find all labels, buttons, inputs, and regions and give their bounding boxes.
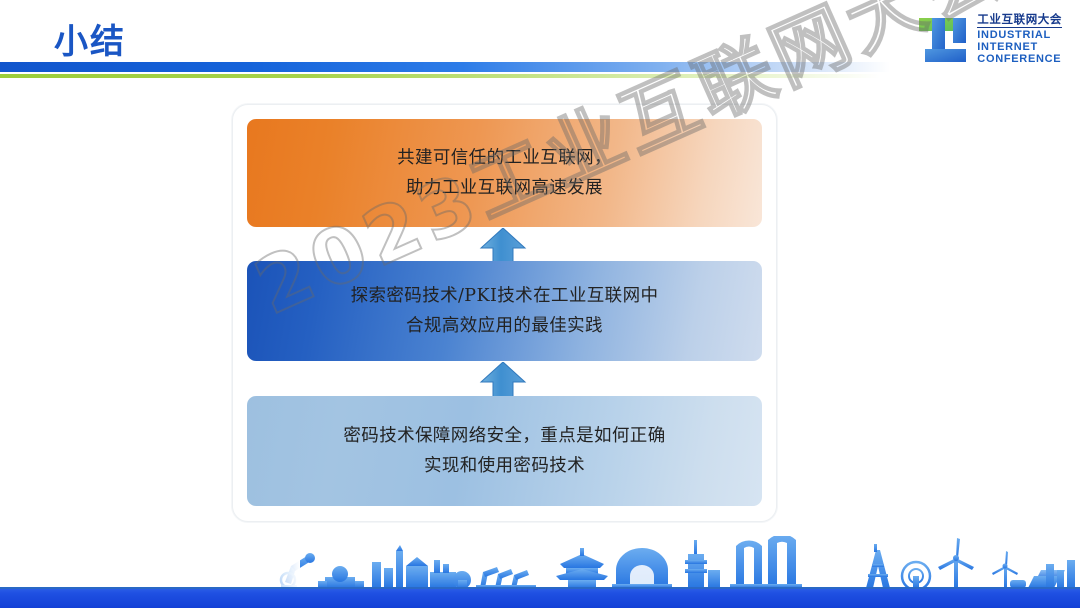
flow-box-goal: 共建可信任的工业互联网， 助力工业互联网高速发展	[247, 119, 762, 227]
flow-box-foundation-line-1: 密码技术保障网络安全，重点是如何正确	[343, 421, 665, 451]
logo-english-line-3: CONFERENCE	[977, 54, 1062, 66]
flow-box-foundation: 密码技术保障网络安全，重点是如何正确 实现和使用密码技术	[247, 396, 762, 506]
header-rule-blue	[0, 62, 890, 72]
flow-box-practice-line-1: 探索密码技术/PKI技术在工业互联网中	[351, 281, 659, 311]
logo-text-block: 工业互联网大会 INDUSTRIAL INTERNET CONFERENCE	[977, 14, 1062, 66]
logo-chinese-name: 工业互联网大会	[977, 14, 1062, 28]
flow-box-practice-line-2: 合规高效应用的最佳实践	[351, 311, 659, 341]
flow-box-goal-line-1: 共建可信任的工业互联网，	[397, 143, 612, 173]
flow-box-foundation-line-2: 实现和使用密码技术	[343, 451, 665, 481]
conference-logo: 工业互联网大会 INDUSTRIAL INTERNET CONFERENCE	[917, 12, 1062, 68]
footer-decoration	[0, 536, 1080, 608]
page-title: 小结	[54, 21, 126, 63]
flow-box-practice: 探索密码技术/PKI技术在工业互联网中 合规高效应用的最佳实践	[247, 261, 762, 361]
slide-root: 小结 工业互联网大会	[0, 0, 1080, 608]
flow-box-goal-line-2: 助力工业互联网高速发展	[397, 173, 612, 203]
flow-diagram: 共建可信任的工业互联网， 助力工业互联网高速发展 探索密码技术/PKI技术在工业…	[232, 104, 777, 522]
header-rule-green	[0, 74, 880, 78]
industrial-internet-conference-logo-mark	[917, 12, 969, 68]
industrial-city-skyline-decoration	[0, 536, 1080, 608]
